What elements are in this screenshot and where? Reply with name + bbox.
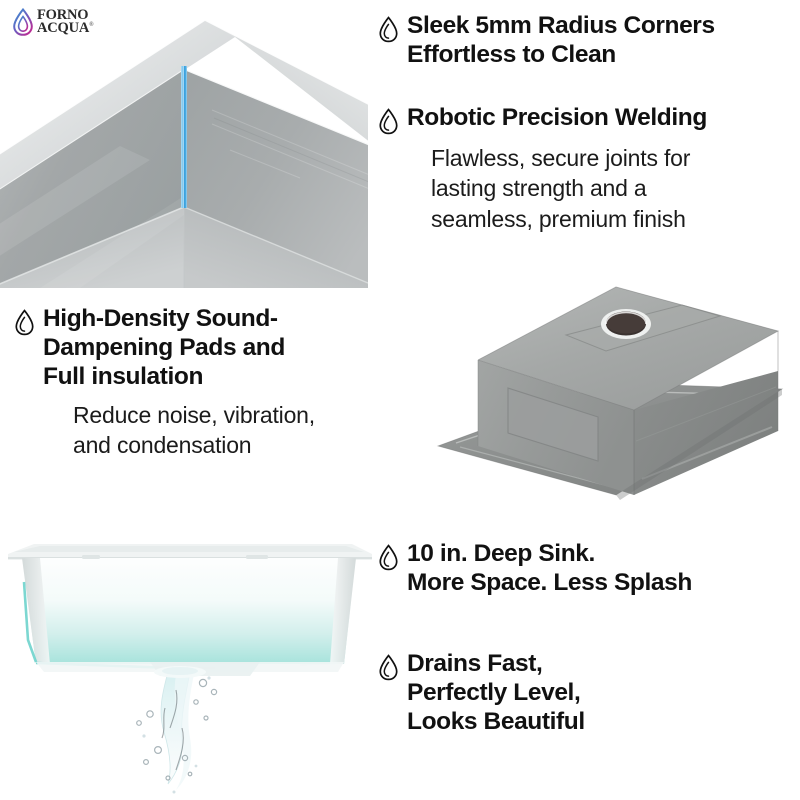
feature-text-block: 10 in. Deep Sink. More Space. Less Splas… <box>407 540 692 598</box>
feature-text-block: High-Density Sound- Dampening Pads and F… <box>43 305 315 460</box>
logo-wordmark: FORNO ACQUA® <box>37 9 94 35</box>
infographic-page: FORNO ACQUA® <box>0 0 800 800</box>
feature-description: Reduce noise, vibration, and condensatio… <box>73 400 315 461</box>
logo-registered-mark: ® <box>89 22 93 28</box>
water-drop-icon <box>14 309 35 336</box>
water-drop-icon <box>378 108 399 135</box>
water-drop-icon <box>378 16 399 43</box>
deep-basin-illustration <box>0 522 378 800</box>
feature-deep-sink: 10 in. Deep Sink. More Space. Less Splas… <box>378 540 788 598</box>
feature-title: High-Density Sound- Dampening Pads and F… <box>43 305 315 392</box>
feature-title: 10 in. Deep Sink. More Space. Less Splas… <box>407 540 692 598</box>
logo-line-acqua: ACQUA <box>37 20 89 36</box>
sink-corner-closeup-image <box>0 0 368 288</box>
feature-robotic-welding: Robotic Precision Welding Flawless, secu… <box>378 104 788 234</box>
feature-text-block: Robotic Precision Welding Flawless, secu… <box>407 104 707 234</box>
feature-radius-corners: Sleek 5mm Radius Corners Effortless to C… <box>378 12 788 70</box>
logo-droplet-icon <box>12 8 34 36</box>
feature-drains-fast: Drains Fast, Perfectly Level, Looks Beau… <box>378 650 788 737</box>
feature-description: Flawless, secure joints for lasting stre… <box>431 143 707 234</box>
brand-logo: FORNO ACQUA® <box>12 8 94 36</box>
feature-text-block: Sleek 5mm Radius Corners Effortless to C… <box>407 12 715 70</box>
feature-title: Robotic Precision Welding <box>407 104 707 133</box>
water-drop-icon <box>378 654 399 681</box>
feature-title: Sleek 5mm Radius Corners Effortless to C… <box>407 12 715 70</box>
feature-sound-dampening: High-Density Sound- Dampening Pads and F… <box>14 305 374 460</box>
feature-title: Drains Fast, Perfectly Level, Looks Beau… <box>407 650 585 737</box>
water-drop-icon <box>378 544 399 571</box>
sink-basin-water-drain-image <box>0 522 378 800</box>
sink-corner-illustration <box>0 0 368 288</box>
sink-underside-insulation-image <box>420 283 795 508</box>
feature-text-block: Drains Fast, Perfectly Level, Looks Beau… <box>407 650 585 737</box>
sink-underside-illustration <box>420 283 795 508</box>
